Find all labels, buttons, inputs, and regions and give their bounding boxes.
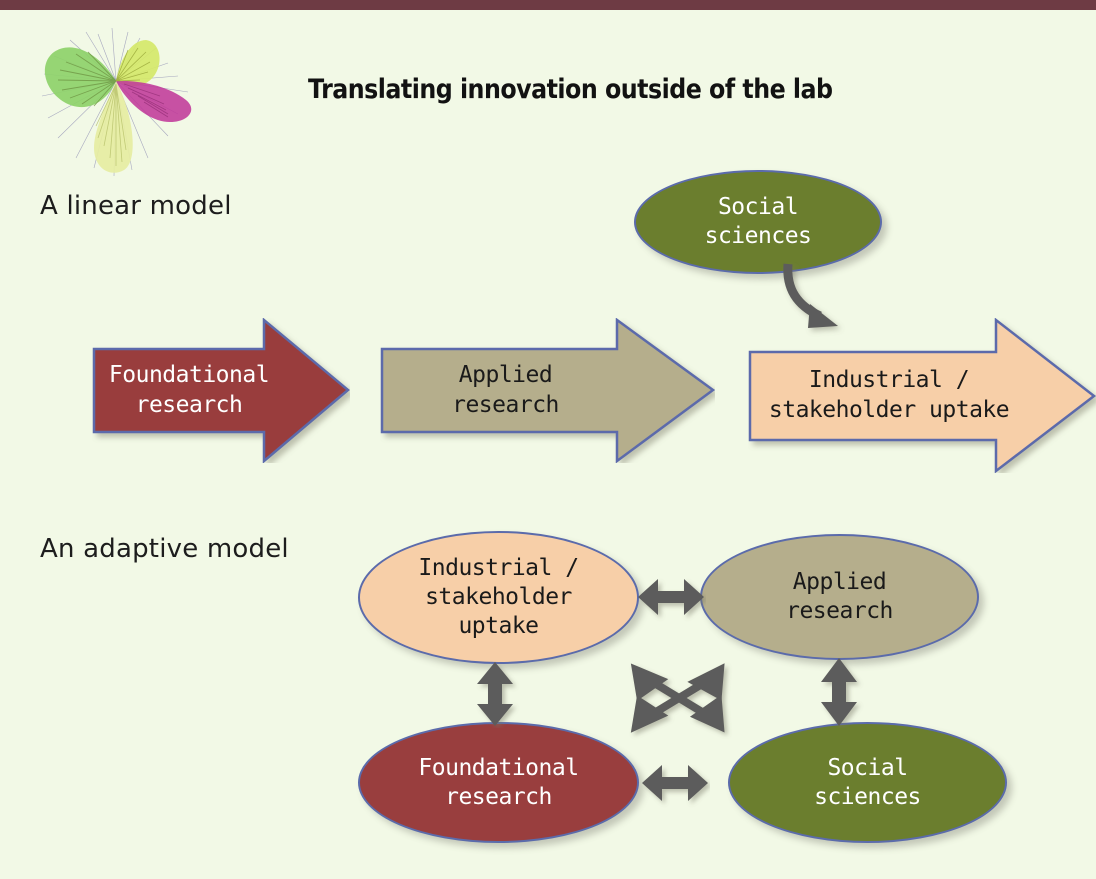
top-accent-bar — [0, 0, 1096, 10]
connector-industrial-foundational-double-arrow — [468, 660, 522, 728]
step-label: Applied research — [452, 361, 643, 420]
step-label: Foundational research — [109, 361, 333, 420]
slide-canvas: Translating innovation outside of the la… — [0, 0, 1096, 879]
section-label-adaptive-model: An adaptive model — [40, 534, 289, 564]
connector-foundational-social-double-arrow — [640, 756, 710, 810]
node-foundational-research-adaptive[interactable]: Foundational research — [358, 722, 639, 843]
connector-applied-social-double-arrow — [812, 656, 866, 728]
step-label: Industrial / stakeholder uptake — [769, 366, 1075, 425]
phylogenetic-leaf-logo — [28, 18, 208, 178]
node-label: Industrial / stakeholder uptake — [418, 554, 578, 641]
node-label: Social sciences — [705, 193, 812, 251]
section-label-linear-model: A linear model — [40, 191, 232, 221]
connector-diagonal-cross-double-arrows — [624, 656, 734, 740]
step-arrow-industrial-stakeholder-uptake[interactable]: Industrial / stakeholder uptake — [748, 318, 1096, 473]
node-industrial-stakeholder-uptake-adaptive[interactable]: Industrial / stakeholder uptake — [358, 531, 639, 664]
node-social-sciences-adaptive[interactable]: Social sciences — [728, 722, 1007, 843]
node-label: Foundational research — [418, 754, 578, 812]
step-arrow-foundational-research[interactable]: Foundational research — [92, 318, 350, 463]
connector-industrial-applied-double-arrow — [636, 570, 706, 624]
page-title: Translating innovation outside of the la… — [308, 74, 889, 105]
node-social-sciences-linear[interactable]: Social sciences — [634, 170, 882, 274]
node-applied-research-adaptive[interactable]: Applied research — [700, 534, 979, 660]
node-label: Social sciences — [814, 754, 921, 812]
node-label: Applied research — [786, 568, 893, 626]
step-arrow-applied-research[interactable]: Applied research — [380, 318, 715, 463]
